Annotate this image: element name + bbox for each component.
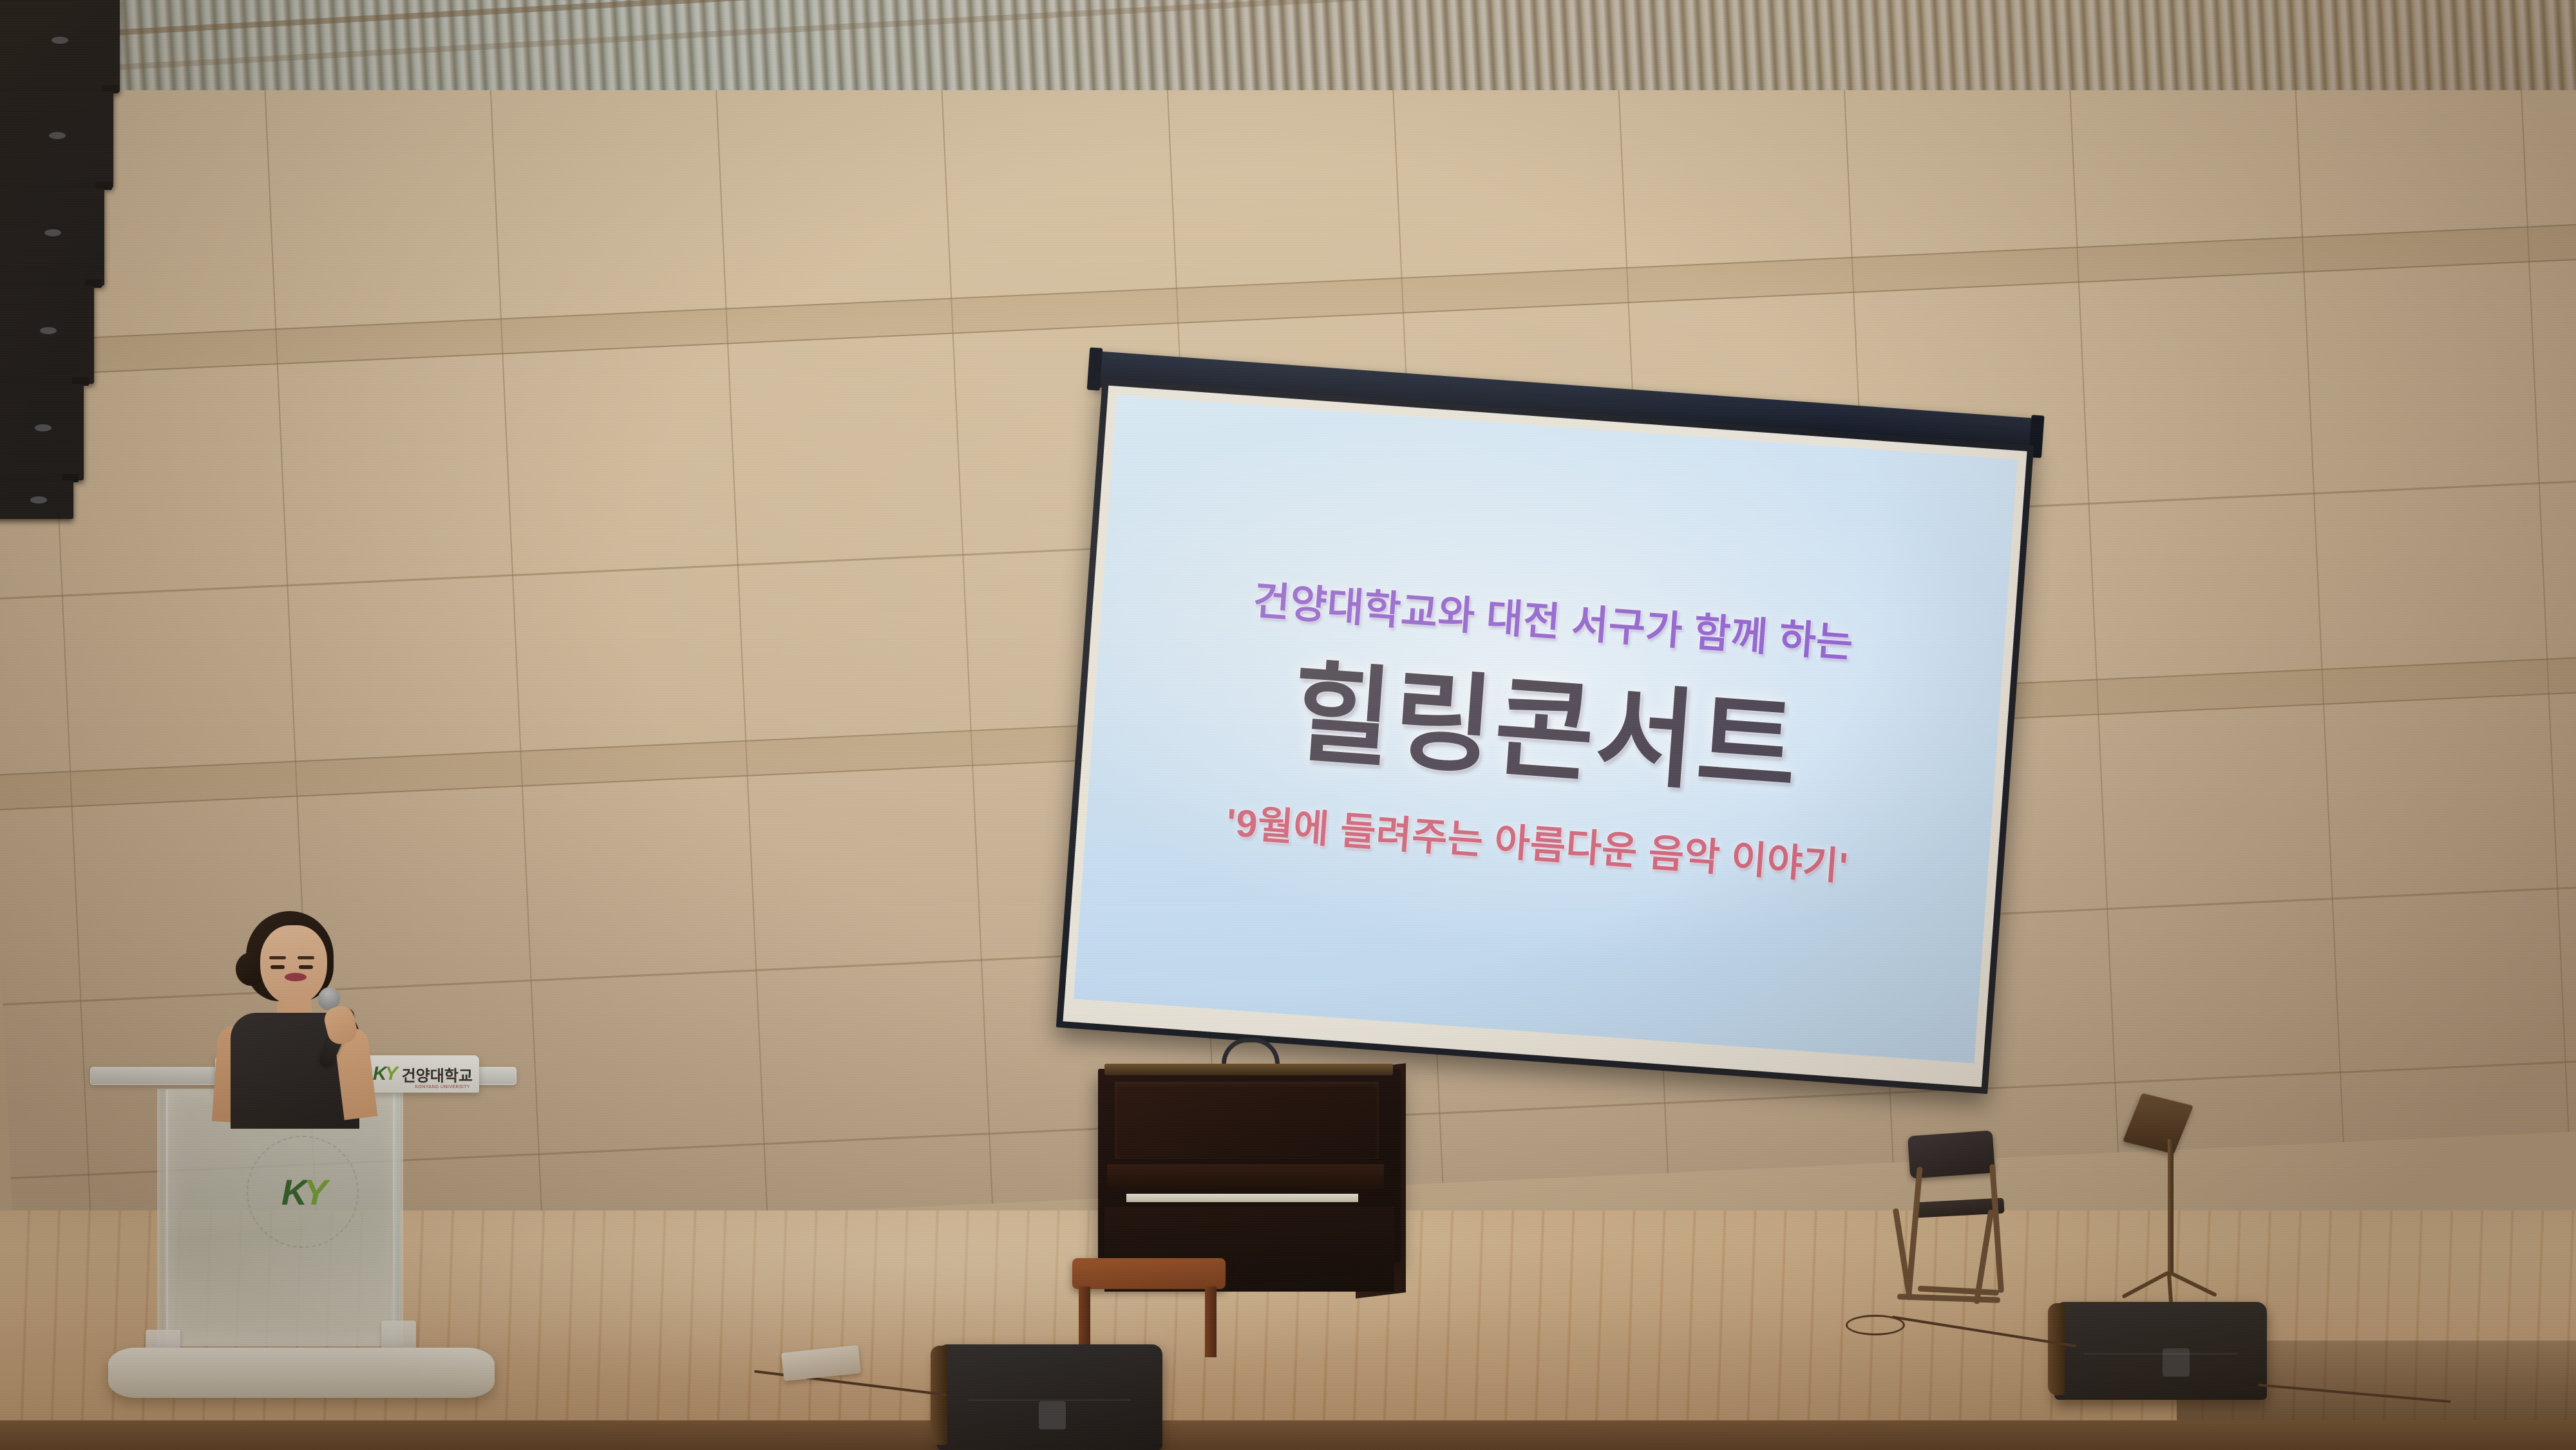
floor-monitor-right xyxy=(2054,1302,2267,1400)
stage-photo: 건양대학교와 대전 서구가 함께 하는 힐링콘서트 '9월에 들려주는 아름다운… xyxy=(0,0,2576,1450)
presenter xyxy=(213,911,406,1124)
folding-chair xyxy=(1880,1133,2029,1326)
presenter-face xyxy=(260,925,327,1005)
projection-screen: 건양대학교와 대전 서구가 함께 하는 힐링콘서트 '9월에 들려주는 아름다운… xyxy=(1056,379,2034,1094)
ky-logo-k: K xyxy=(281,1171,303,1213)
ky-logo-y: Y xyxy=(303,1171,323,1213)
piano-keyboard xyxy=(1126,1194,1358,1202)
slide-kicker-text: 건양대학교와 대전 서구가 함께 하는 xyxy=(1251,568,1855,669)
podium-university-name-kr: 건양대학교 xyxy=(402,1063,473,1086)
podium-university-name-en: KONYANG UNIVERSITY xyxy=(415,1085,470,1089)
stage-front-edge xyxy=(0,1420,2576,1450)
slide-surface: 건양대학교와 대전 서구가 함께 하는 힐링콘서트 '9월에 들려주는 아름다운… xyxy=(1074,395,2018,1064)
slide-title-text: 힐링콘서트 xyxy=(1288,656,1802,805)
music-stand xyxy=(2119,1098,2215,1310)
floor-monitor-left xyxy=(937,1344,1162,1450)
podium-base xyxy=(108,1348,495,1398)
upright-piano xyxy=(1098,1050,1407,1333)
podium-seal-logo: KY xyxy=(247,1136,359,1248)
line-array-speaker xyxy=(0,0,142,511)
